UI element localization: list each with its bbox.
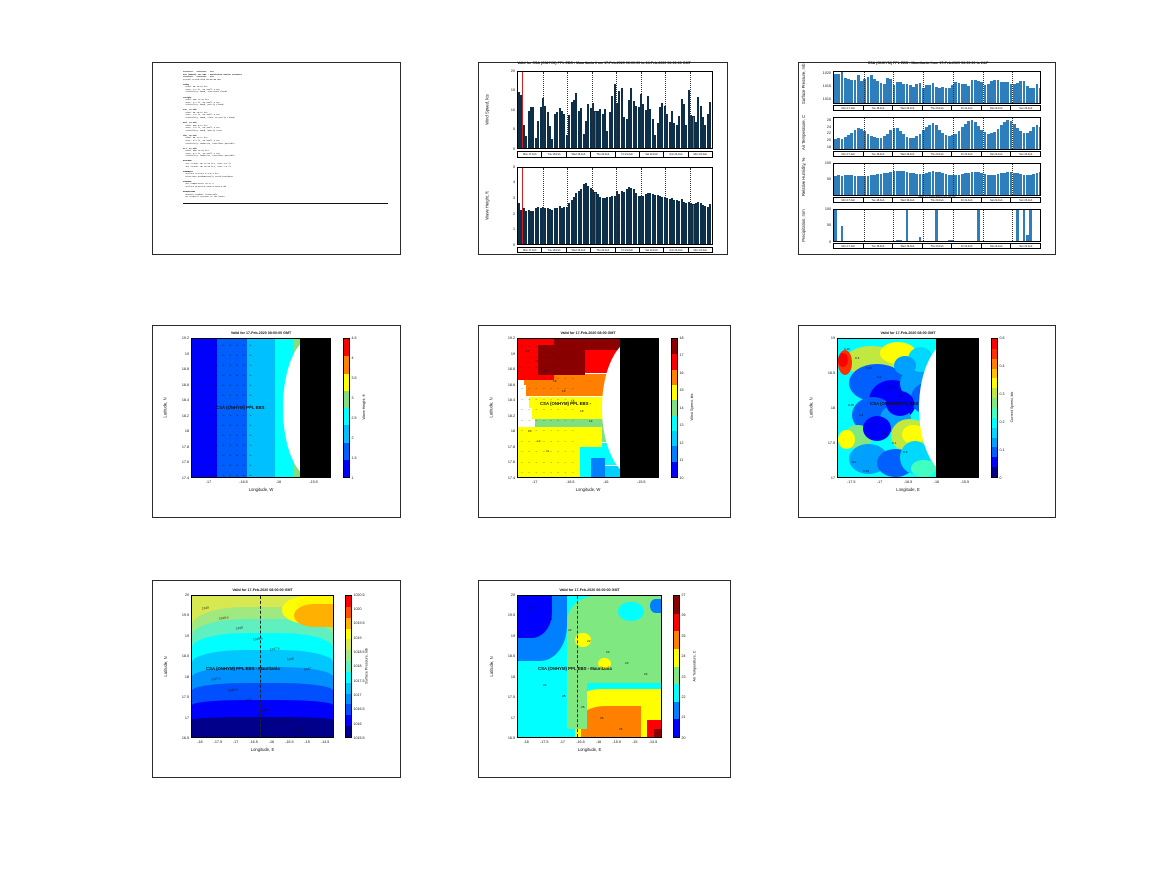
contour-label: 0.2 — [859, 413, 863, 417]
gridline-vertical — [641, 72, 642, 148]
wind-vector-row: → → → → → → → → — [520, 376, 576, 380]
date-label: Tue 18-Feb — [542, 248, 566, 252]
y-tick-label: 1010 — [807, 97, 831, 101]
contour-band — [650, 599, 661, 613]
y-axis-label: Latitude, N — [489, 338, 494, 478]
y-axis-label: Latitude, N — [489, 595, 494, 738]
date-label: Wed 19-Feb — [893, 106, 923, 110]
bar — [1029, 209, 1032, 241]
y-tick-label: 1 — [491, 227, 515, 231]
x-tick-label: -16 — [926, 480, 946, 484]
landmass — [620, 339, 658, 477]
x-axis-label: Longitude, E — [517, 747, 662, 752]
y-tick-label: 20 — [497, 593, 515, 597]
wind-vector-row: ↘ ↘ ↘ ↘ ↘ ↘ ↘ ↘ ↘ — [195, 343, 253, 347]
gridline-vertical — [592, 72, 593, 148]
x-tick-label: -15.5 — [607, 740, 627, 744]
contour-label: 20 — [530, 606, 533, 610]
air-temperature-map-panel: Valid for 17-Feb-2020 06:00:00 GMT202122… — [478, 580, 731, 778]
colorbar-segment — [672, 446, 677, 461]
bar — [1039, 172, 1041, 195]
current-time-marker — [522, 168, 523, 244]
gridline-vertical — [983, 72, 984, 103]
contour-label: 0.1 — [892, 441, 896, 445]
colorbar-title: Surface Pressure, mb — [364, 594, 368, 737]
contour-label: 0.15 — [870, 422, 876, 426]
report-divider — [183, 203, 388, 204]
y-tick-label: 0 — [491, 147, 515, 151]
y-tick-label: 19.2 — [171, 336, 189, 340]
gridline-vertical — [983, 118, 984, 149]
wave-date-strip: Mon 17-FebTue 18-FebWed 19-FebThu 20-Feb… — [517, 247, 713, 253]
date-label: Thu 20-Feb — [923, 244, 953, 248]
x-tick-label: -17 — [552, 740, 572, 744]
colorbar-segment — [346, 694, 351, 705]
y-tick-label: 19.2 — [497, 336, 515, 340]
wind-vector-row: → → → → → → → → — [520, 397, 576, 401]
contour-label: 26 — [600, 716, 603, 720]
colorbar-tick-label: 14 — [680, 406, 684, 410]
x-axis-label: Longitude, E — [191, 747, 334, 752]
x-axis-label: Longitude, E — [837, 487, 979, 492]
date-label: Sat 22-Feb — [982, 198, 1012, 202]
figure-title: Valid for 17-Feb-2020 08:00:00 GMT — [191, 331, 331, 335]
contour-label: 0.15 — [888, 385, 894, 389]
gridline-vertical — [864, 210, 865, 241]
y-tick-label: 0 — [807, 240, 831, 244]
date-label: Tue 18-Feb — [864, 152, 894, 156]
gridline-vertical — [953, 164, 954, 195]
wind-vector-row: ↘ ↘ ↘ ↘ ↘ ↘ ↘ ↘ ↘ — [195, 373, 253, 377]
wind-vector-row: ↘ ↘ ↘ ↘ ↘ ↘ ↘ ↘ ↘ — [195, 393, 253, 397]
y-tick-label: 19.5 — [497, 613, 515, 617]
colorbar-tick-label: 27 — [682, 593, 686, 597]
y-tick-label: 100 — [807, 161, 831, 165]
colorbar-segment — [346, 596, 351, 607]
colorbar-tick-label: 1016 — [354, 722, 362, 726]
gridline-vertical — [864, 164, 865, 195]
wind-speed-colorbar — [671, 338, 678, 478]
met-date-strip: Mon 17-FebTue 18-FebWed 19-FebThu 20-Feb… — [833, 105, 1041, 111]
date-label: Wed 19-Feb — [893, 152, 923, 156]
y-axis-label: Wind Speed, kts — [485, 71, 490, 149]
date-label: Mon 17-Feb — [834, 106, 864, 110]
contour-label: 15 — [580, 409, 583, 413]
gridline-vertical — [1012, 72, 1013, 103]
gridline-vertical — [893, 164, 894, 195]
y-tick-label: 18.4 — [497, 398, 515, 402]
figure-title: Valid for 17-Feb-2020 08:00 GMT — [517, 331, 659, 335]
wind-vector-row: → → → → → → → → — [520, 407, 576, 411]
date-label: Mon 17-Feb — [834, 152, 864, 156]
y-tick-label: 19 — [171, 634, 189, 638]
contour-label: 0.35 — [848, 403, 854, 407]
report-spacer — [183, 199, 390, 202]
gridline-vertical — [983, 210, 984, 241]
wind-vector-row: → → → → → → → → — [520, 386, 576, 390]
bar — [935, 209, 938, 241]
air-temperature-caxes — [833, 117, 1041, 150]
colorbar-tick-label: 15 — [680, 388, 684, 392]
wind-vector-row: → → → → → → → → — [520, 344, 576, 348]
y-tick-label: 18.5 — [817, 371, 835, 375]
contour-label: 17 — [544, 369, 547, 373]
contour-label: 16 — [553, 379, 556, 383]
date-label: Mon 17-Feb — [518, 248, 542, 252]
contour-label: 0.25 — [866, 366, 872, 370]
bar — [712, 95, 713, 148]
colorbar-segment — [344, 374, 349, 391]
contour-label: 1016.5 — [228, 687, 238, 692]
figure-title: CSA (ONHYM) PPL EBS - Mauritania from 17… — [799, 61, 1057, 65]
contour-band — [618, 602, 644, 622]
gridline-vertical — [543, 72, 544, 148]
contour-label: 24 — [644, 672, 647, 676]
date-label: Tue 18-Feb — [864, 106, 894, 110]
x-tick-label: -15.5 — [631, 480, 651, 484]
colorbar-tick-label: 1019.5 — [354, 621, 365, 625]
colorbar-tick-label: 1018 — [354, 664, 362, 668]
wind-vector-row: ↘ ↘ ↘ ↘ ↘ ↘ ↘ ↘ ↘ — [195, 453, 253, 457]
date-label: Wed 19-Feb — [893, 244, 923, 248]
x-tick-label: -17 — [525, 480, 545, 484]
date-label: Sun 23-Feb — [1011, 244, 1040, 248]
gridline-vertical — [1012, 118, 1013, 149]
bar — [1039, 127, 1041, 149]
y-tick-label: 50 — [807, 177, 831, 181]
date-label: Sun 23-Feb — [1011, 152, 1040, 156]
map-axes: 202122222323242425252626CSA (ONHYM) PPL … — [517, 595, 662, 738]
y-axis-label: Air Temperature, C — [801, 117, 806, 150]
colorbar-tick-label: 4.5 — [352, 336, 357, 340]
y-tick-label: 22 — [807, 131, 831, 135]
contour-band — [654, 729, 661, 737]
gridline-vertical — [923, 210, 924, 241]
colorbar-segment — [344, 460, 349, 477]
y-tick-label: 26 — [807, 118, 831, 122]
colorbar-segment — [992, 467, 997, 477]
y-tick-label: 19 — [497, 352, 515, 356]
site-label: CSA (ONHYM) PPL EBS - Mauritania — [206, 666, 280, 671]
bar — [977, 209, 980, 241]
contour-label: 1019.5 — [253, 636, 263, 641]
y-tick-label: 0 — [491, 243, 515, 247]
y-tick-label: 17.5 — [171, 695, 189, 699]
colorbar-segment — [346, 639, 351, 650]
y-axis-label: Latitude, N — [809, 338, 814, 478]
colorbar-segment — [674, 631, 679, 649]
colorbar-segment — [346, 629, 351, 640]
y-tick-label: 1015 — [807, 84, 831, 88]
date-label: Fri 21-Feb — [952, 106, 982, 110]
colorbar-tick-label: 1017 — [354, 693, 362, 697]
colorbar-segment — [992, 457, 997, 467]
wind-vector-row: → → → → → → → → — [520, 418, 576, 422]
date-label: Sat 22-Feb — [640, 248, 664, 252]
gridline-vertical — [893, 210, 894, 241]
gridline-vertical — [690, 168, 691, 244]
colorbar-segment — [344, 443, 349, 460]
colorbar-segment — [344, 425, 349, 442]
colorbar-tick-label: 22 — [682, 695, 686, 699]
date-label: Mon 24-Feb — [689, 152, 712, 157]
contour-blob — [838, 353, 848, 367]
colorbar-tick-label: 23 — [682, 675, 686, 679]
y-axis-label: Relative Humidity, % — [801, 163, 806, 196]
colorbar-segment — [992, 447, 997, 457]
date-label: Mon 17-Feb — [518, 152, 542, 157]
wave-height-colorbar — [343, 338, 350, 478]
contour-label: 25 — [581, 705, 584, 709]
colorbar-tick-label: 1015.5 — [354, 736, 365, 740]
x-tick-label: -15.5 — [955, 480, 975, 484]
map-axes: → → → → → → → →→ → → → → → → →→ → → → → … — [517, 338, 659, 478]
x-tick-label: -16.5 — [570, 740, 590, 744]
contour-label: 13 — [528, 429, 531, 433]
y-axis-label: Surface Pressure, mb — [801, 71, 806, 104]
y-tick-label: 17.4 — [171, 476, 189, 480]
colorbar-segment — [344, 339, 349, 356]
wind-vector-row: ↘ ↘ ↘ ↘ ↘ ↘ ↘ ↘ ↘ — [195, 413, 253, 417]
wind-vector-row: ↘ ↘ ↘ ↘ ↘ ↘ ↘ ↘ ↘ — [195, 423, 253, 427]
colorbar-segment — [992, 359, 997, 369]
wind-speed-map-panel: Valid for 17-Feb-2020 08:00 GMT→ → → → →… — [478, 325, 731, 518]
gridline-vertical — [1012, 210, 1013, 241]
wind-wave-timeseries-panel: Valid for CSA (ONHYM) PPL EBS - Mauritan… — [478, 62, 728, 255]
y-tick-label: 17 — [497, 716, 515, 720]
site-label: CSA (ONHYM) PPL EBS — [870, 401, 918, 406]
colorbar-tick-label: 12 — [680, 441, 684, 445]
landmass — [936, 339, 978, 477]
date-label: Mon 17-Feb — [834, 244, 864, 248]
date-label: Fri 21-Feb — [952, 152, 982, 156]
gridline-vertical — [690, 72, 691, 148]
y-tick-label: 24 — [807, 125, 831, 129]
contour-blob — [894, 356, 916, 375]
y-tick-label: 18 — [171, 429, 189, 433]
wind-vector-row: ↘ ↘ ↘ ↘ ↘ ↘ ↘ ↘ ↘ — [195, 353, 253, 357]
y-tick-label: 19 — [171, 352, 189, 356]
date-label: Mon 17-Feb — [834, 198, 864, 202]
gridline-vertical — [983, 164, 984, 195]
map-axes: 0.450.30.250.20.150.10.350.20.150.250.10… — [837, 338, 979, 478]
bar — [906, 209, 909, 241]
gridline-vertical — [543, 168, 544, 244]
colorbar-segment — [674, 596, 679, 614]
colorbar-segment — [344, 356, 349, 373]
colorbar-segment — [992, 378, 997, 388]
contour-band — [192, 717, 333, 737]
gridline-vertical — [567, 72, 568, 148]
y-tick-label: 17.6 — [171, 460, 189, 464]
colorbar-segment — [346, 607, 351, 618]
wind-vector-row: → → → → → → → → — [520, 470, 576, 474]
contour-label: 0.25 — [881, 432, 887, 436]
y-tick-label: 17.8 — [171, 445, 189, 449]
site-label: CSA (ONHYM) PPL EBS - Mauritania — [538, 666, 612, 671]
date-label: Wed 19-Feb — [567, 248, 591, 252]
contour-label: 17 — [535, 359, 538, 363]
contour-label: 12 — [537, 439, 540, 443]
colorbar-segment — [674, 614, 679, 632]
x-tick-label: -16 — [596, 480, 616, 484]
date-label: Mon 24-Feb — [689, 248, 712, 252]
gridline-vertical — [953, 210, 954, 241]
contour-label: 1017 — [245, 697, 252, 702]
figure-title: Valid for 17-Feb-2020 08:00 GMT — [837, 331, 979, 335]
wind-vector-row: → → → → → → → → — [520, 439, 576, 443]
colorbar-segment — [346, 704, 351, 715]
gridline-vertical — [616, 168, 617, 244]
wind-speed-axes — [517, 71, 713, 149]
date-label: Sun 23-Feb — [1011, 198, 1040, 202]
y-tick-label: 17.4 — [497, 476, 515, 480]
y-axis-label: Wave Height, ft — [485, 167, 490, 245]
colorbar-segment — [992, 339, 997, 349]
contour-band — [591, 458, 605, 477]
colorbar-segment — [346, 650, 351, 661]
y-axis-label: Latitude, N — [163, 595, 168, 738]
gridline-vertical — [953, 72, 954, 103]
y-tick-label: 18.8 — [497, 367, 515, 371]
contour-blob — [838, 430, 855, 449]
date-label: Thu 20-Feb — [923, 106, 953, 110]
surface-pressure-map-panel: Valid for 17-Feb-2020 08:00:00 GMT101910… — [152, 580, 401, 778]
y-tick-label: 17 — [817, 476, 835, 480]
y-tick-label: 100 — [807, 207, 831, 211]
report-body: ======== ======== ===CSA (ONHYM) PPL EBS… — [183, 71, 390, 204]
y-tick-label: 19 — [497, 634, 515, 638]
date-label: Sat 22-Feb — [982, 244, 1012, 248]
colorbar-title: Current Speed, kts — [1010, 337, 1014, 477]
date-label: Thu 20-Feb — [591, 248, 615, 252]
colorbar-tick-label: 17 — [680, 353, 684, 357]
colorbar-segment — [672, 416, 677, 431]
colorbar-segment — [992, 408, 997, 418]
wind-vector-row: → → → → → → → → — [520, 355, 576, 359]
site-label: CSA (ONHYM) PPL EBS — [216, 405, 264, 410]
y-tick-label: 20 — [171, 593, 189, 597]
contour-label: 0.2 — [877, 375, 881, 379]
y-tick-label: 18.5 — [171, 654, 189, 658]
surface-pressure-mbaxes — [833, 71, 1041, 104]
y-tick-label: 18.6 — [497, 383, 515, 387]
colorbar-tick-label: 21 — [682, 715, 686, 719]
contour-label: 24 — [543, 683, 546, 687]
date-label: Thu 20-Feb — [923, 152, 953, 156]
colorbar-segment — [992, 349, 997, 359]
x-tick-label: -17.5 — [534, 740, 554, 744]
y-tick-label: 19.5 — [171, 613, 189, 617]
met-timeseries-panel: CSA (ONHYM) PPL EBS - Mauritania from 17… — [798, 62, 1056, 255]
gridline-vertical — [567, 168, 568, 244]
bar — [841, 226, 844, 241]
wind-vector-row: ↘ ↘ ↘ ↘ ↘ ↘ ↘ ↘ ↘ — [195, 383, 253, 387]
air-temperature-colorbar — [673, 595, 680, 738]
precipitation-mmaxes — [833, 209, 1041, 242]
y-tick-label: 16.5 — [171, 736, 189, 740]
x-tick-label: -15.5 — [304, 480, 324, 484]
colorbar-title: Wind Speed, kts — [690, 337, 694, 477]
colorbar-segment — [346, 672, 351, 683]
contour-band — [294, 604, 333, 627]
x-tick-label: -16.5 — [560, 480, 580, 484]
colorbar-segment — [672, 400, 677, 415]
colorbar-segment — [346, 715, 351, 726]
wind-date-strip: Mon 17-FebTue 18-FebWed 19-FebThu 20-Feb… — [517, 151, 713, 158]
contour-label: 0.3 — [903, 450, 907, 454]
colorbar-tick-label: 11 — [680, 458, 684, 462]
gridline-vertical — [641, 168, 642, 244]
met-date-strip: Mon 17-FebTue 18-FebWed 19-FebThu 20-Feb… — [833, 151, 1041, 157]
current-speed-colorbar — [991, 338, 998, 478]
bar — [899, 240, 902, 241]
gridline-vertical — [665, 72, 666, 148]
gridline-vertical — [893, 118, 894, 149]
date-label: Tue 18-Feb — [542, 152, 566, 157]
colorbar-segment — [346, 726, 351, 737]
y-tick-label: 5 — [491, 165, 515, 169]
colorbar-title: Wave Height, ft — [362, 337, 366, 477]
y-tick-label: 18.5 — [497, 654, 515, 658]
contour-label: 17 — [526, 349, 529, 353]
colorbar-segment — [992, 428, 997, 438]
colorbar-segment — [674, 684, 679, 702]
colorbar-tick-label: 1018.5 — [354, 650, 365, 654]
site-label: CSA (ONHYM) PPL EBS - — [540, 401, 591, 406]
date-label: Sun 23-Feb — [1011, 106, 1040, 110]
x-tick-label: -17.5 — [841, 480, 861, 484]
contour-label: 0.1 — [899, 394, 903, 398]
wave-height-axes — [517, 167, 713, 245]
contour-label: 14 — [589, 419, 592, 423]
date-label: Thu 20-Feb — [591, 152, 615, 157]
wind-vector-row: ↘ ↘ ↘ ↘ ↘ ↘ ↘ ↘ ↘ — [195, 463, 253, 467]
contour-label: 0.45 — [844, 347, 850, 351]
y-tick-label: 18 — [497, 429, 515, 433]
x-tick-label: -17 — [199, 480, 219, 484]
colorbar-tick-label: 3.5 — [352, 376, 357, 380]
colorbar-tick-label: 1020 — [354, 607, 362, 611]
x-tick-label: -16 — [269, 480, 289, 484]
date-label: Fri 21-Feb — [616, 152, 640, 157]
colorbar-tick-label: 1020.5 — [354, 593, 365, 597]
gridline-vertical — [592, 168, 593, 244]
colorbar-tick-label: 0.2 — [1000, 420, 1005, 424]
x-tick-label: -16 — [589, 740, 609, 744]
colorbar-segment — [992, 418, 997, 428]
y-tick-label: 17.5 — [817, 441, 835, 445]
colorbar-tick-label: 1017.5 — [354, 679, 365, 683]
x-tick-label: -16.5 — [234, 480, 254, 484]
date-label: Sat 22-Feb — [982, 106, 1012, 110]
y-axis-label: Latitude, N — [163, 338, 168, 478]
bar — [1016, 209, 1019, 241]
gridline-vertical — [864, 118, 865, 149]
gridline-vertical — [864, 72, 865, 103]
y-tick-label: 18.6 — [171, 383, 189, 387]
gridline-vertical — [893, 72, 894, 103]
colorbar-tick-label: 1019 — [354, 636, 362, 640]
colorbar-tick-label: 1016.5 — [354, 707, 365, 711]
gridline-vertical — [923, 72, 924, 103]
x-tick-label: -15 — [625, 740, 645, 744]
date-label: Sun 23-Feb — [664, 152, 688, 157]
contour-label: 16 — [562, 389, 565, 393]
colorbar-tick-label: 13 — [680, 423, 684, 427]
y-tick-label: 17 — [171, 716, 189, 720]
date-label: Wed 19-Feb — [893, 198, 923, 202]
